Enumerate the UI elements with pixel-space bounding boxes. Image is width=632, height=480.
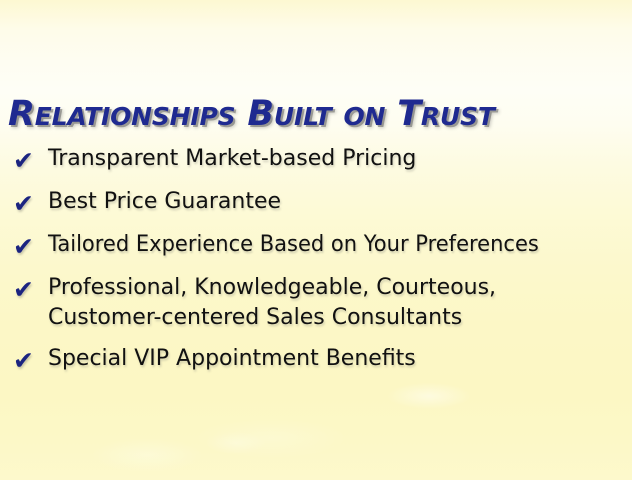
check-mark-icon: ✔ <box>13 233 39 261</box>
slide-canvas: Relationships Built on Trust ✔ Transpare… <box>0 0 632 480</box>
list-item: ✔ Best Price Guarantee <box>0 187 632 225</box>
list-item-label: Special VIP Appointment Benefits <box>48 344 628 374</box>
list-item: ✔ Professional, Knowledgeable, Courteous… <box>0 273 632 339</box>
check-mark-icon: ✔ <box>13 347 39 375</box>
list-item-label: Transparent Market-based Pricing <box>48 144 628 174</box>
list-item: ✔ Transparent Market-based Pricing <box>0 144 632 182</box>
slide-title: Relationships Built on Trust <box>0 92 632 136</box>
background-artifact <box>206 432 266 454</box>
background-artifact <box>196 418 346 458</box>
list-item: ✔ Special VIP Appointment Benefits <box>0 344 632 382</box>
title-block: Relationships Built on Trust <box>0 92 632 140</box>
list-item-label: Best Price Guarantee <box>48 187 628 217</box>
list-item: ✔ Tailored Experience Based on Your Pref… <box>0 230 632 268</box>
bullet-list: ✔ Transparent Market-based Pricing ✔ Bes… <box>0 144 632 387</box>
check-mark-icon: ✔ <box>13 276 39 304</box>
check-mark-icon: ✔ <box>13 190 39 218</box>
background-artifact <box>92 438 202 472</box>
list-item-label: Professional, Knowledgeable, Courteous, … <box>48 273 628 333</box>
check-mark-icon: ✔ <box>13 147 39 175</box>
list-item-label: Tailored Experience Based on Your Prefer… <box>48 230 602 260</box>
